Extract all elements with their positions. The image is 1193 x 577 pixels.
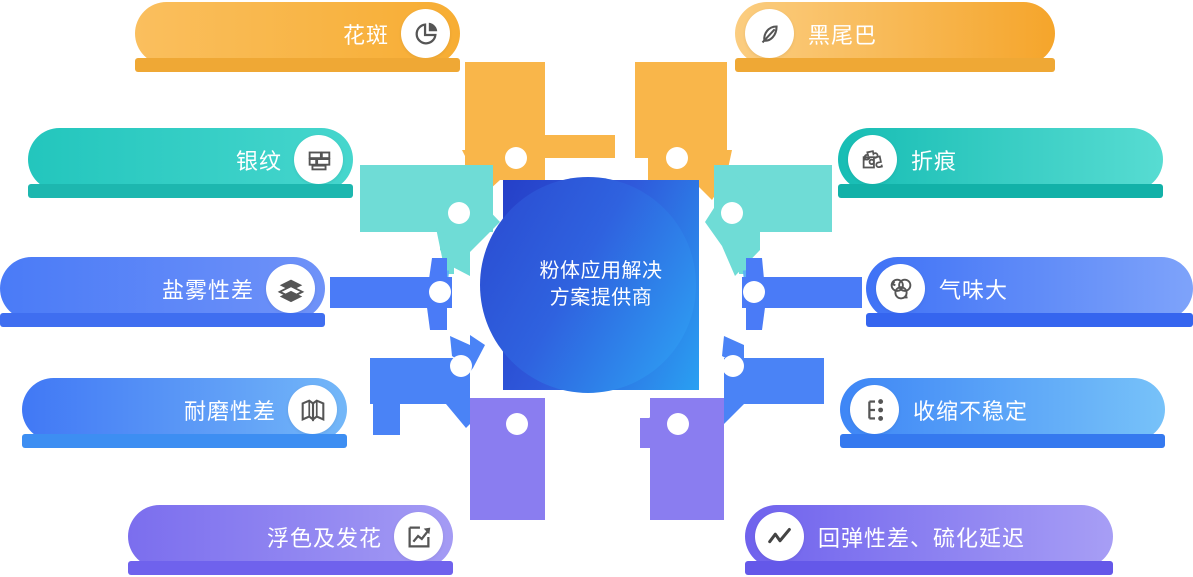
node-naimoxingcha[interactable]: 耐磨性差	[22, 378, 347, 441]
connector-row2-left	[360, 165, 500, 276]
node-heiweiba[interactable]: 黑尾巴	[735, 2, 1055, 65]
node-zhehen[interactable]: 折痕	[838, 128, 1163, 191]
node-naimoxingcha-label: 耐磨性差	[184, 394, 276, 426]
node-yanwuxingcha[interactable]: 盐雾性差	[0, 257, 325, 320]
map-icon	[288, 385, 337, 434]
node-yanwuxingcha-ledge	[0, 313, 325, 327]
connector-row5-right	[640, 398, 724, 520]
node-qiweida[interactable]: 气味大	[866, 257, 1193, 320]
connector-row3-right	[742, 258, 862, 330]
node-qiweida-label: 气味大	[939, 273, 1008, 305]
brick-wall-icon	[294, 135, 343, 184]
node-fusejifahua[interactable]: 浮色及发花	[128, 505, 453, 568]
chart-arrow-up-icon	[394, 512, 443, 561]
node-yinwen[interactable]: 银纹	[28, 128, 353, 191]
node-shousuobuwending[interactable]: 收缩不稳定	[840, 378, 1165, 441]
puzzle-piece-icon	[848, 135, 897, 184]
node-shousuobuwending-label: 收缩不稳定	[913, 394, 1028, 426]
connector-row3-left	[330, 258, 452, 330]
node-yinwen-label: 银纹	[236, 144, 282, 176]
node-zhehen-ledge	[838, 184, 1163, 198]
node-fusejifahua-ledge	[128, 561, 453, 575]
connector-row2-right	[705, 165, 832, 276]
node-yinwen-ledge	[28, 184, 353, 198]
center-node-label: 粉体应用解决 方案提供商	[503, 180, 699, 390]
node-heiweiba-ledge	[735, 58, 1055, 72]
center-node: 粉体应用解决 方案提供商	[503, 180, 699, 390]
recycle-icon	[876, 264, 925, 313]
node-huitanxingcha-label: 回弹性差、硫化延迟	[818, 521, 1025, 553]
node-huitanxingcha[interactable]: 回弹性差、硫化延迟	[745, 505, 1113, 568]
node-huitanxingcha-ledge	[745, 561, 1113, 575]
connector-row5-left	[470, 398, 545, 520]
sitemap-icon	[850, 385, 899, 434]
node-shousuobuwending-ledge	[840, 434, 1165, 448]
diagram-canvas: 粉体应用解决 方案提供商 花斑 黑尾巴 银纹	[0, 0, 1193, 577]
node-qiweida-ledge	[866, 313, 1193, 327]
node-zhehen-label: 折痕	[911, 144, 957, 176]
node-heiweiba-label: 黑尾巴	[808, 18, 877, 50]
node-naimoxingcha-ledge	[22, 434, 347, 448]
layers-icon	[266, 264, 315, 313]
node-yanwuxingcha-label: 盐雾性差	[162, 273, 254, 305]
node-fusejifahua-label: 浮色及发花	[267, 521, 382, 553]
node-huaban-ledge	[135, 58, 460, 72]
connector-row4-left	[370, 335, 485, 435]
pie-chart-icon	[401, 9, 450, 58]
leaf-icon	[745, 9, 794, 58]
node-huaban-label: 花斑	[343, 18, 389, 50]
line-chart-icon	[755, 512, 804, 561]
node-huaban[interactable]: 花斑	[135, 2, 460, 65]
